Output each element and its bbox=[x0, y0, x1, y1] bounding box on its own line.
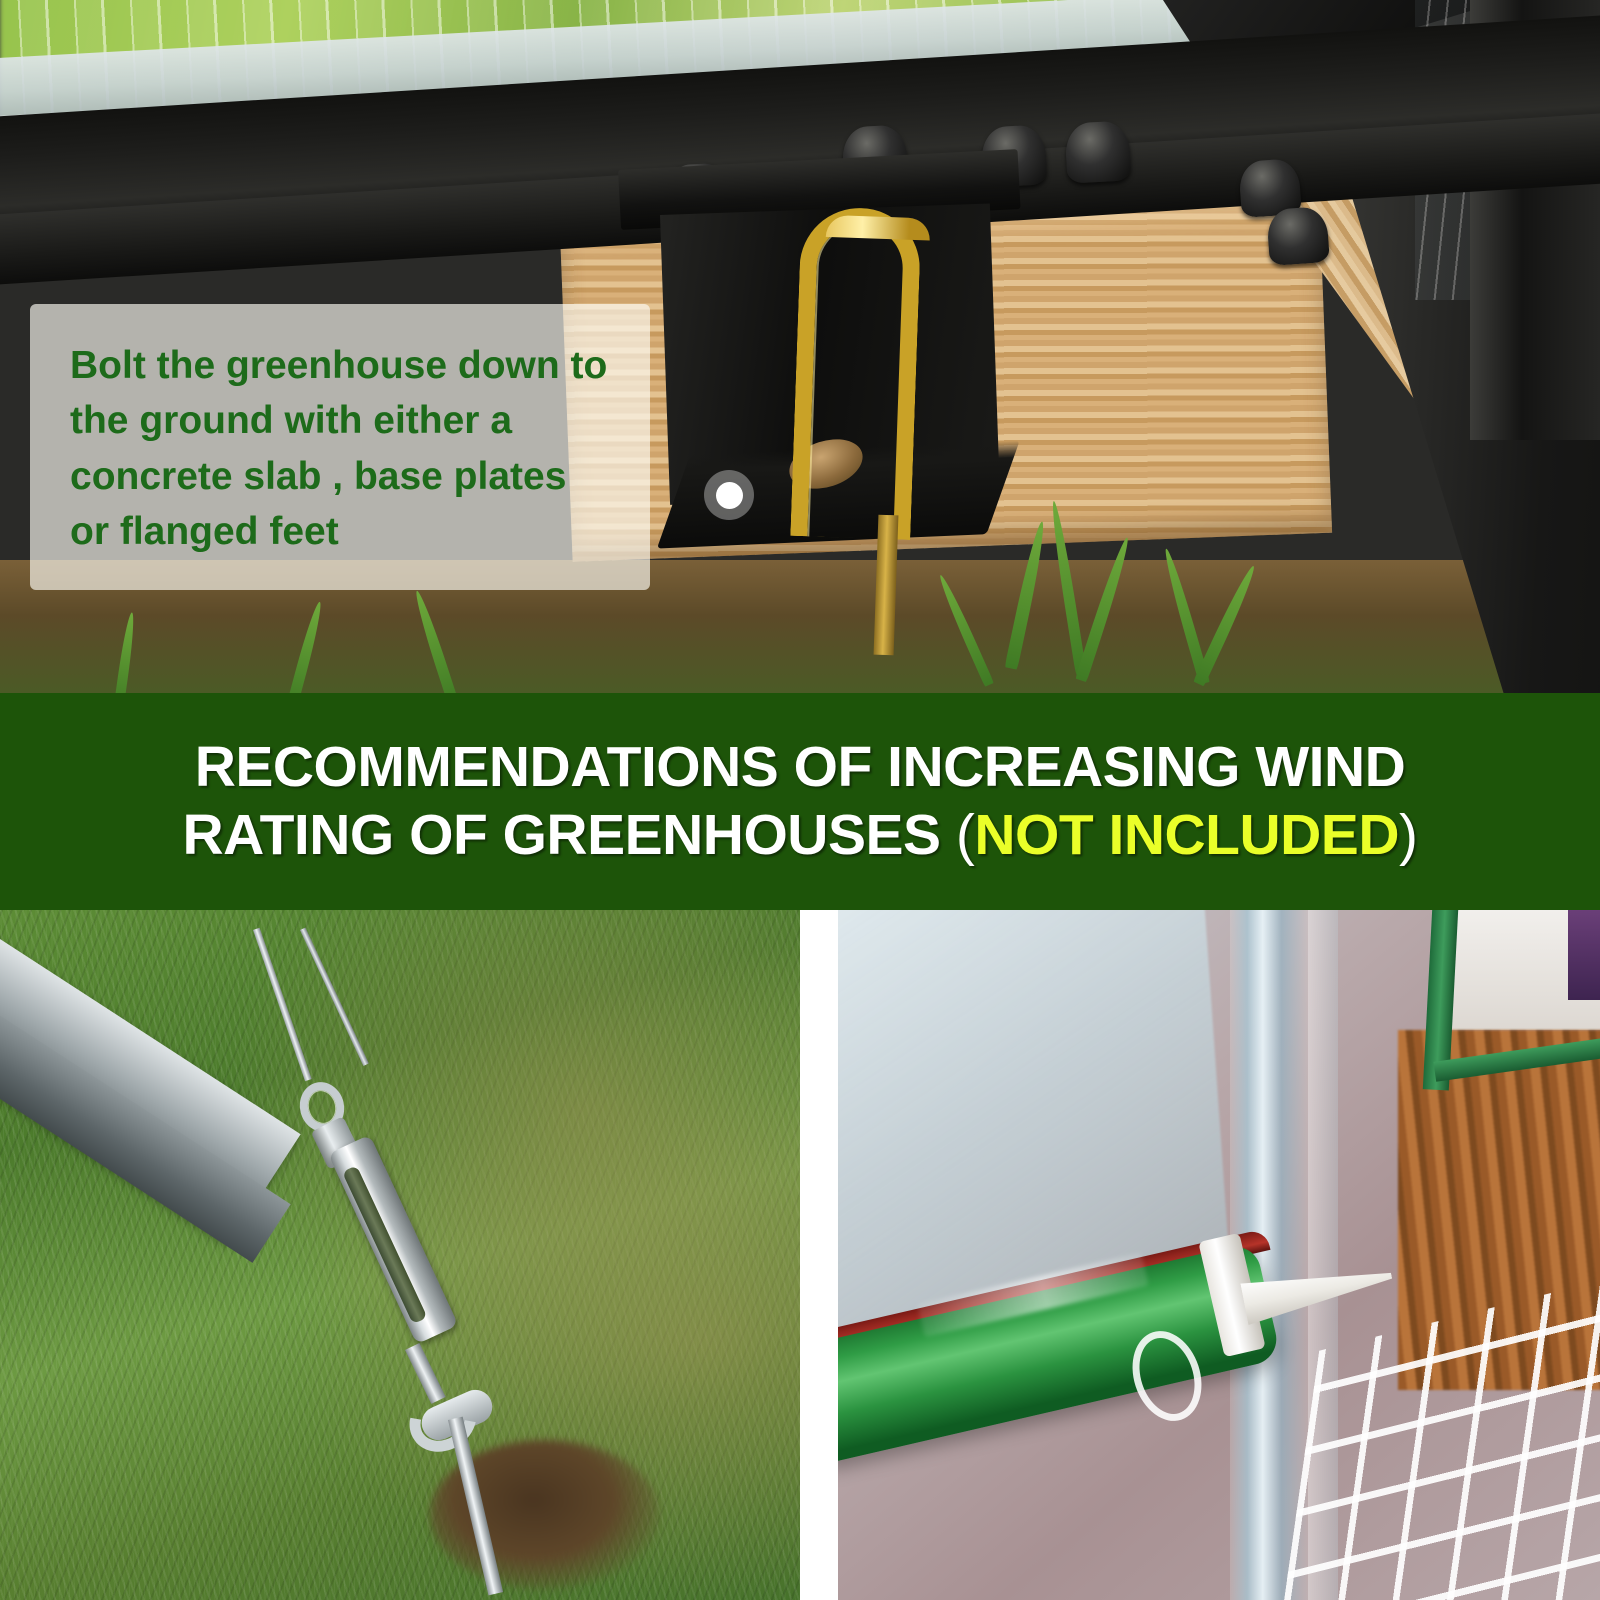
panel-bottom-left-tie-down: Using extra tie-down kits bbox=[0, 910, 800, 1600]
product-infographic: Bolt the greenhouse down to the ground w… bbox=[0, 0, 1600, 1600]
panel-top-greenhouse-anchor: Bolt the greenhouse down to the ground w… bbox=[0, 0, 1600, 693]
hotspot-dot-icon[interactable] bbox=[704, 470, 754, 520]
caption-bolt-greenhouse: Bolt the greenhouse down to the ground w… bbox=[30, 304, 650, 590]
banner-paren-open: ( bbox=[956, 803, 974, 867]
banner-line-1: RECOMMENDATIONS OF INCREASING WIND bbox=[195, 737, 1406, 799]
banner-paren-close: ) bbox=[1399, 803, 1417, 867]
u-bolt-ground-anchor bbox=[790, 206, 921, 540]
banner-accent-not-included: NOT INCLUDED bbox=[974, 803, 1399, 867]
panel-bottom-right-silicone: Using silicone sealant to seal the panel… bbox=[838, 910, 1600, 1600]
panel-divider-gap bbox=[800, 910, 838, 1600]
banner-line-2-main: RATING OF GREENHOUSES bbox=[183, 803, 941, 867]
headline-banner: RECOMMENDATIONS OF INCREASING WIND RATIN… bbox=[0, 693, 1600, 910]
background-dark-object bbox=[1568, 910, 1600, 1000]
dome-nut bbox=[1266, 206, 1330, 266]
banner-line-2: RATING OF GREENHOUSES (NOT INCLUDED) bbox=[183, 805, 1418, 867]
dome-nut bbox=[1064, 120, 1131, 183]
